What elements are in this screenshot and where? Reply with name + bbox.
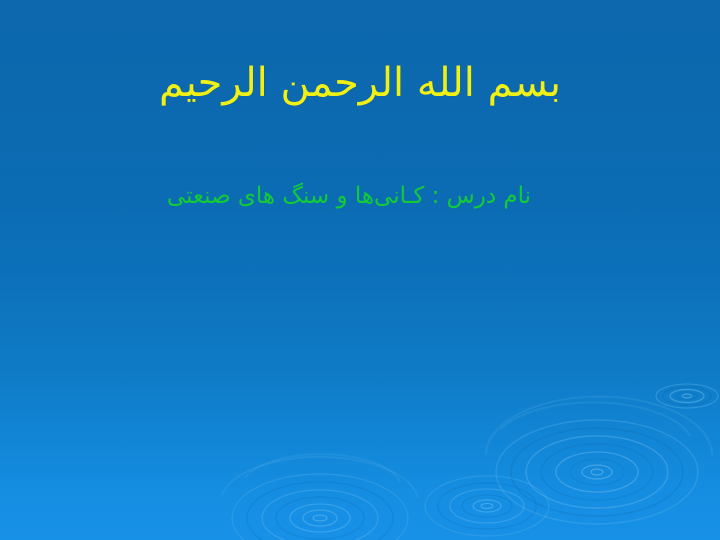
ripple-small-top-right xyxy=(656,384,718,408)
slide-title-text: بسم الله الرحمن الرحیم xyxy=(159,58,561,108)
slide-subtitle: نام درس : کـانی‌ها و سنگ های صنعتی xyxy=(0,182,720,212)
ripple-left xyxy=(222,454,418,540)
presentation-slide: بسم الله الرحمن الرحیم نام درس : کـانی‌ه… xyxy=(0,0,720,540)
slide-title: بسم الله الرحمن الرحیم xyxy=(0,58,720,108)
slide-subtitle-text: نام درس : کـانی‌ها و سنگ های صنعتی xyxy=(167,182,531,212)
ripple-medium-center xyxy=(425,476,549,536)
ripple-large-bottom-right xyxy=(486,396,712,524)
